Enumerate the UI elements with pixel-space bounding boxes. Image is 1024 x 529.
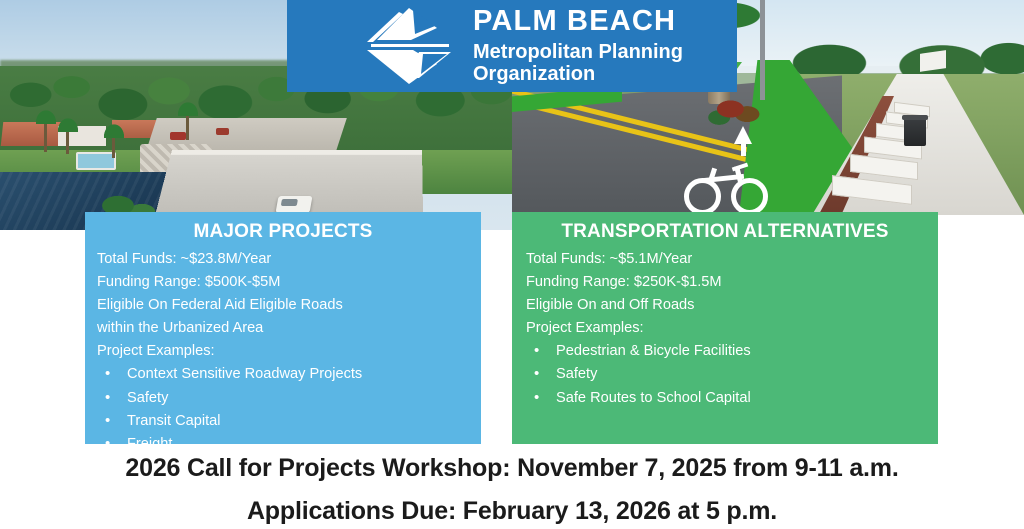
applications-due-line: Applications Due: February 13, 2026 at 5…	[0, 497, 1024, 526]
transportation-alternatives-panel: TRANSPORTATION ALTERNATIVES Total Funds:…	[512, 212, 938, 444]
project-examples-list: Pedestrian & Bicycle Facilities Safety S…	[526, 340, 926, 409]
swimming-pool	[76, 152, 116, 170]
logo-banner: PALM BEACH Metropolitan Planning Organiz…	[287, 0, 737, 92]
panel-title: MAJOR PROJECTS	[85, 220, 481, 244]
org-name-line1: Metropolitan Planning	[473, 41, 683, 63]
construction-truck-2	[216, 128, 229, 135]
landscaping-shrubs	[708, 92, 764, 126]
palm-tree	[186, 110, 189, 140]
palm-tree	[44, 118, 47, 152]
panel-line: Total Funds: ~$23.8M/Year	[97, 248, 469, 271]
org-name-primary: PALM BEACH	[473, 7, 683, 36]
list-item: Transit Capital	[97, 410, 469, 433]
trash-receptacle	[904, 118, 926, 146]
bike-wheel-right	[731, 178, 768, 215]
palm-tree	[112, 132, 115, 158]
panel-title: TRANSPORTATION ALTERNATIVES	[512, 220, 938, 244]
street-sign	[920, 50, 946, 72]
project-examples-list: Context Sensitive Roadway Projects Safet…	[97, 363, 469, 456]
major-projects-panel: MAJOR PROJECTS Total Funds: ~$23.8M/Year…	[85, 212, 481, 444]
list-item: Safety	[526, 363, 926, 386]
footer: 2026 Call for Projects Workshop: Novembe…	[0, 446, 1024, 529]
workshop-date-line: 2026 Call for Projects Workshop: Novembe…	[0, 454, 1024, 483]
construction-truck	[170, 132, 186, 140]
panel-line: Funding Range: $500K-$5M	[97, 271, 469, 294]
bike-lane-arrow-tail	[741, 142, 746, 156]
panel-body: Total Funds: ~$23.8M/Year Funding Range:…	[85, 248, 481, 456]
panel-line: Project Examples:	[97, 340, 469, 363]
panel-body: Total Funds: ~$5.1M/Year Funding Range: …	[512, 248, 938, 410]
white-pickup-truck	[276, 196, 313, 213]
palm-beach-mpo-diamond-logo-icon	[363, 6, 459, 86]
org-name-secondary: Metropolitan Planning Organization	[473, 41, 683, 86]
panel-line: Project Examples:	[526, 317, 926, 340]
panel-line: Total Funds: ~$5.1M/Year	[526, 248, 926, 271]
list-item: Safety	[97, 387, 469, 410]
bicycle-pavement-marking-icon	[684, 166, 768, 206]
bridge-railing	[171, 150, 422, 155]
sidewalk-pavers	[824, 92, 1024, 215]
org-name-line2: Organization	[473, 63, 683, 85]
light-pole	[760, 0, 765, 100]
panel-line: Eligible On Federal Aid Eligible Roads	[97, 294, 469, 317]
bike-wheel-left	[684, 178, 721, 215]
poster: PALM BEACH Metropolitan Planning Organiz…	[0, 0, 1024, 529]
panel-line: Eligible On and Off Roads	[526, 294, 926, 317]
panel-line: Funding Range: $250K-$1.5M	[526, 271, 926, 294]
program-panels: MAJOR PROJECTS Total Funds: ~$23.8M/Year…	[0, 212, 1024, 444]
list-item: Pedestrian & Bicycle Facilities	[526, 340, 926, 363]
palm-tree	[66, 126, 69, 154]
list-item: Context Sensitive Roadway Projects	[97, 363, 469, 386]
panel-line: within the Urbanized Area	[97, 317, 469, 340]
logo-wordmark: PALM BEACH Metropolitan Planning Organiz…	[473, 7, 683, 86]
list-item: Safe Routes to School Capital	[526, 387, 926, 410]
